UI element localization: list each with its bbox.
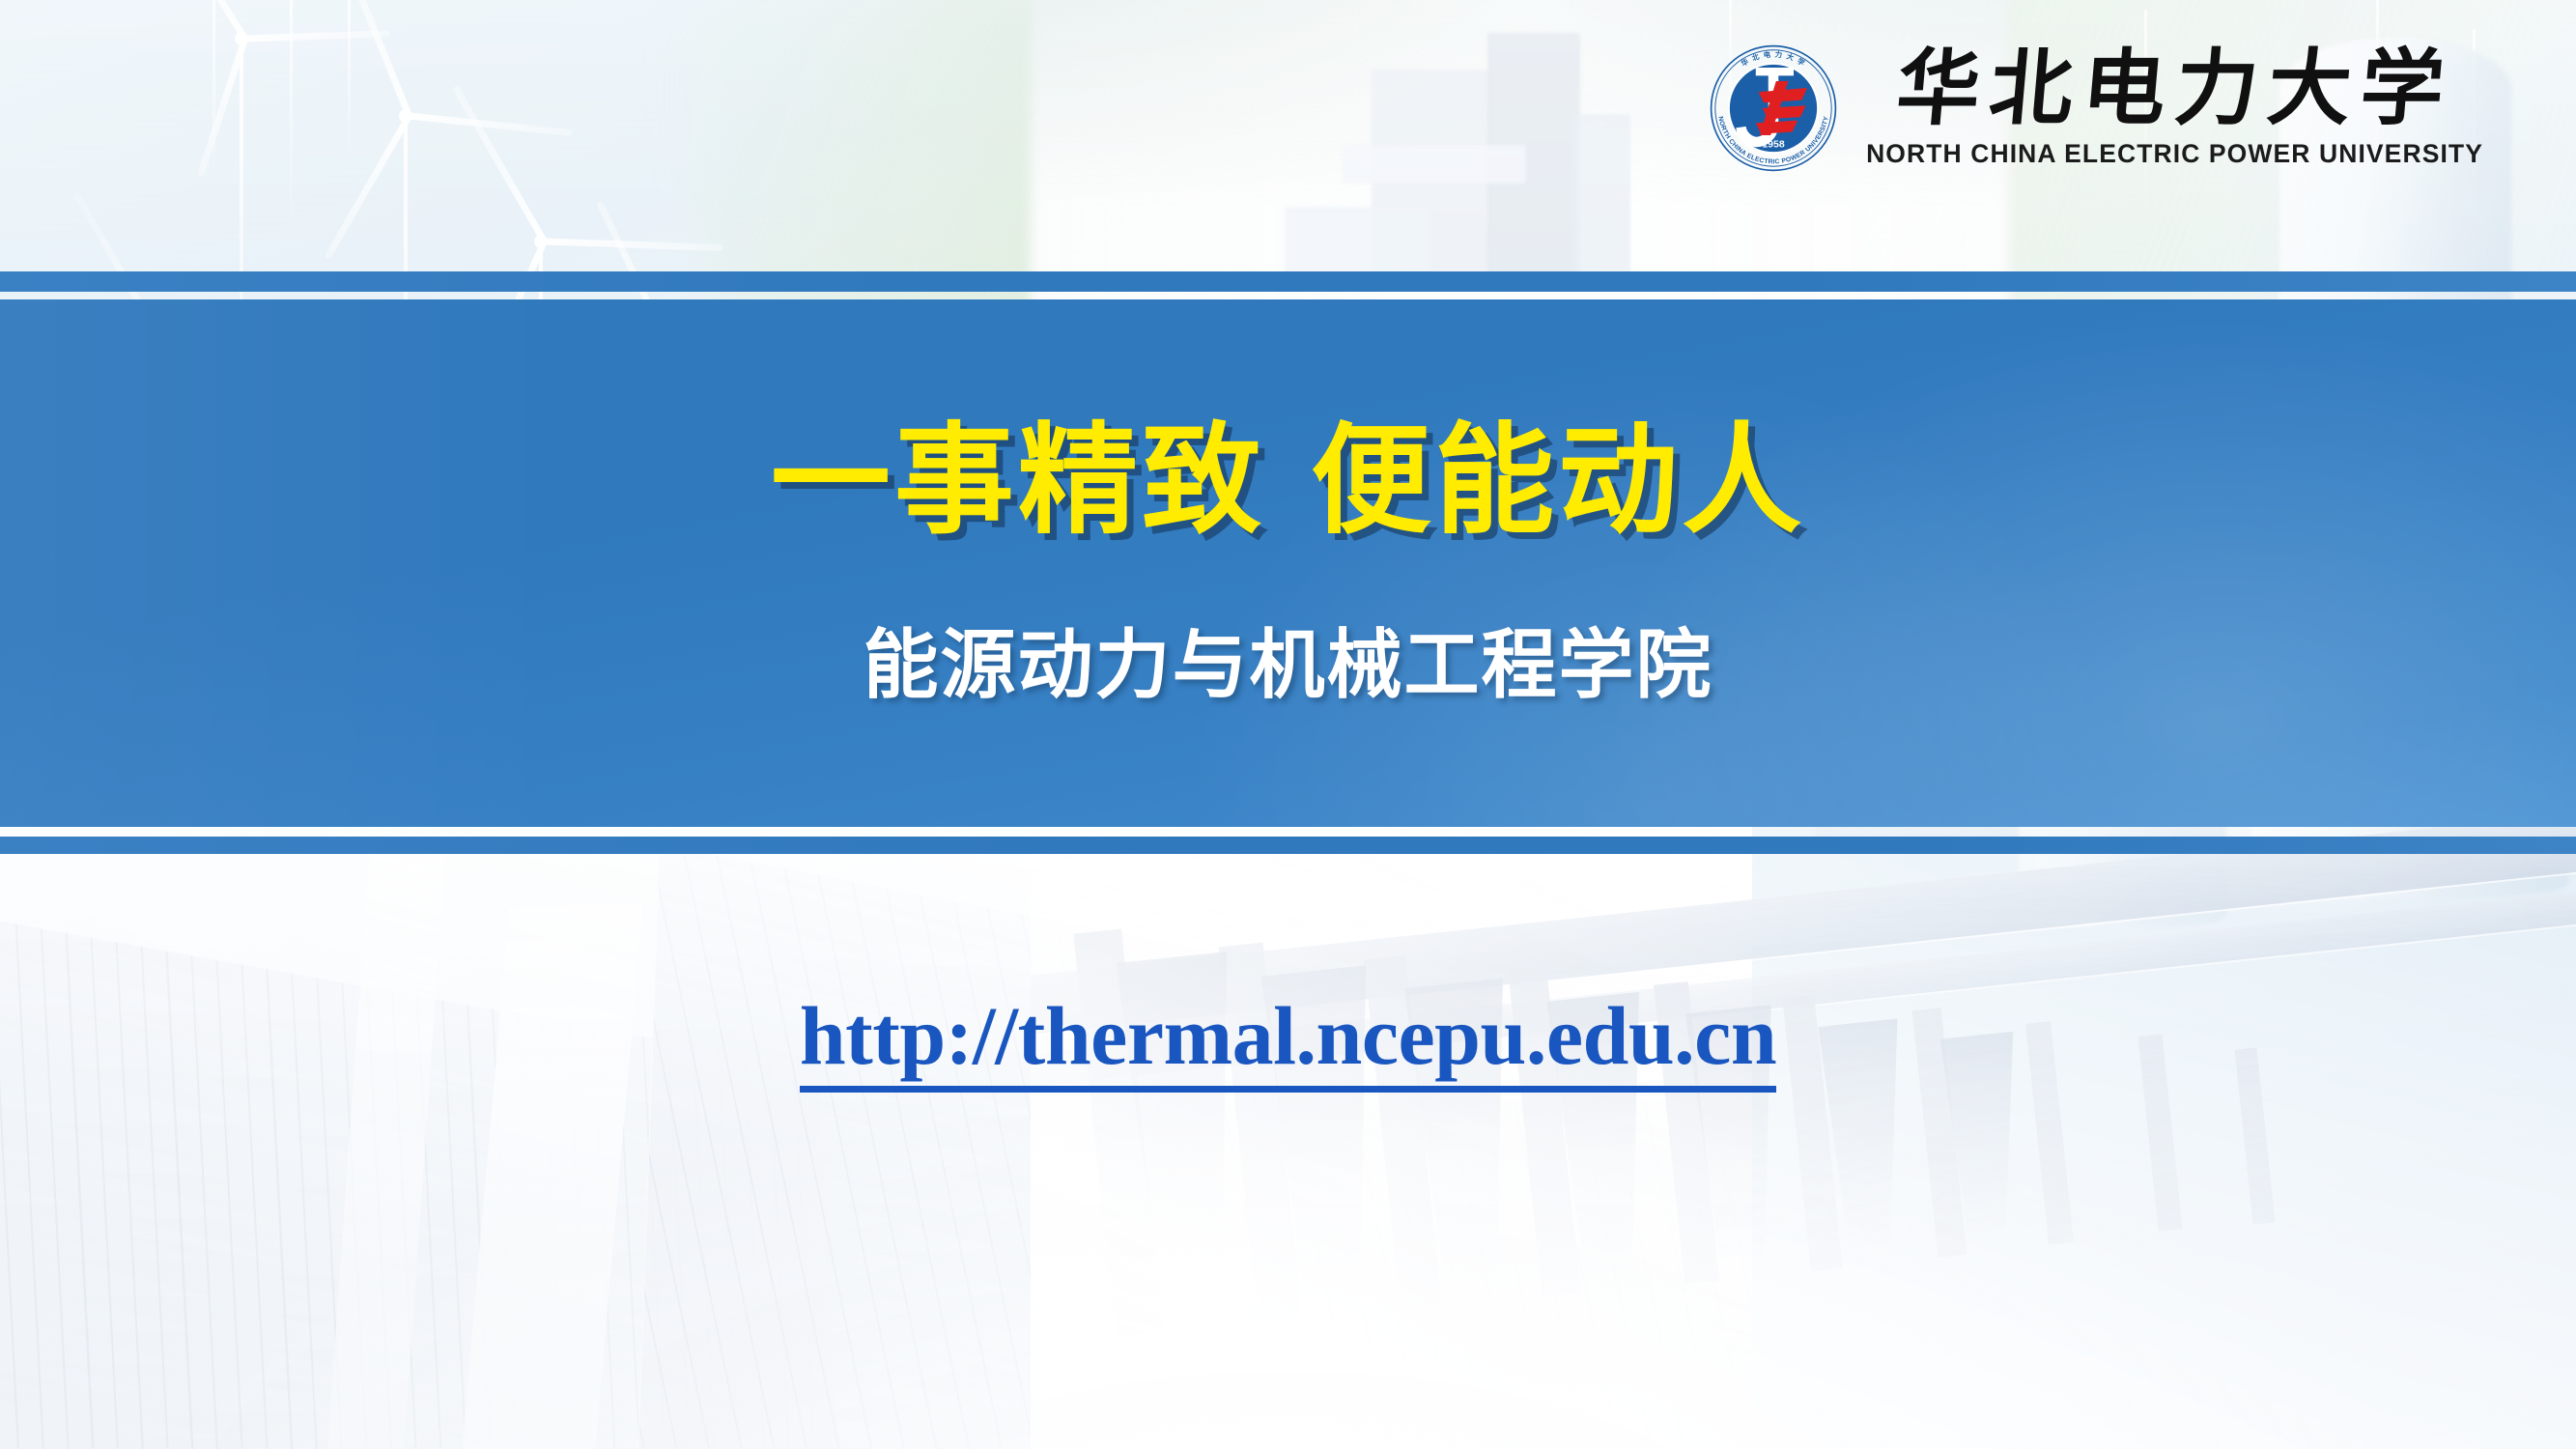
website-link[interactable]: http://thermal.ncepu.edu.cn — [800, 987, 1776, 1093]
banner-bottom-rule — [0, 837, 2576, 854]
school-name: 能源动力与机械工程学院 — [0, 605, 2576, 713]
slogan-title: 一事精致 便能动人 — [0, 383, 2576, 556]
banner-top-rule — [0, 271, 2576, 292]
university-name-cn: 华北电力大学 — [1893, 46, 2457, 131]
presentation-slide: 1958 华 北 电 力 大 学 NORTH CHINA ELECTRIC PO… — [0, 0, 2576, 1449]
ncepu-crest-icon: 1958 华 北 电 力 大 学 NORTH CHINA ELECTRIC PO… — [1706, 41, 1841, 176]
university-name-en: NORTH CHINA ELECTRIC POWER UNIVERSITY — [1866, 139, 2483, 169]
crest-year: 1958 — [1762, 139, 1785, 151]
university-logo: 1958 华 北 电 力 大 学 NORTH CHINA ELECTRIC PO… — [1706, 41, 2483, 176]
banner-main-band — [0, 299, 2576, 827]
website-row: http://thermal.ncepu.edu.cn — [0, 987, 2576, 1093]
logo-wordmark: 华北电力大学 NORTH CHINA ELECTRIC POWER UNIVER… — [1866, 41, 2483, 169]
